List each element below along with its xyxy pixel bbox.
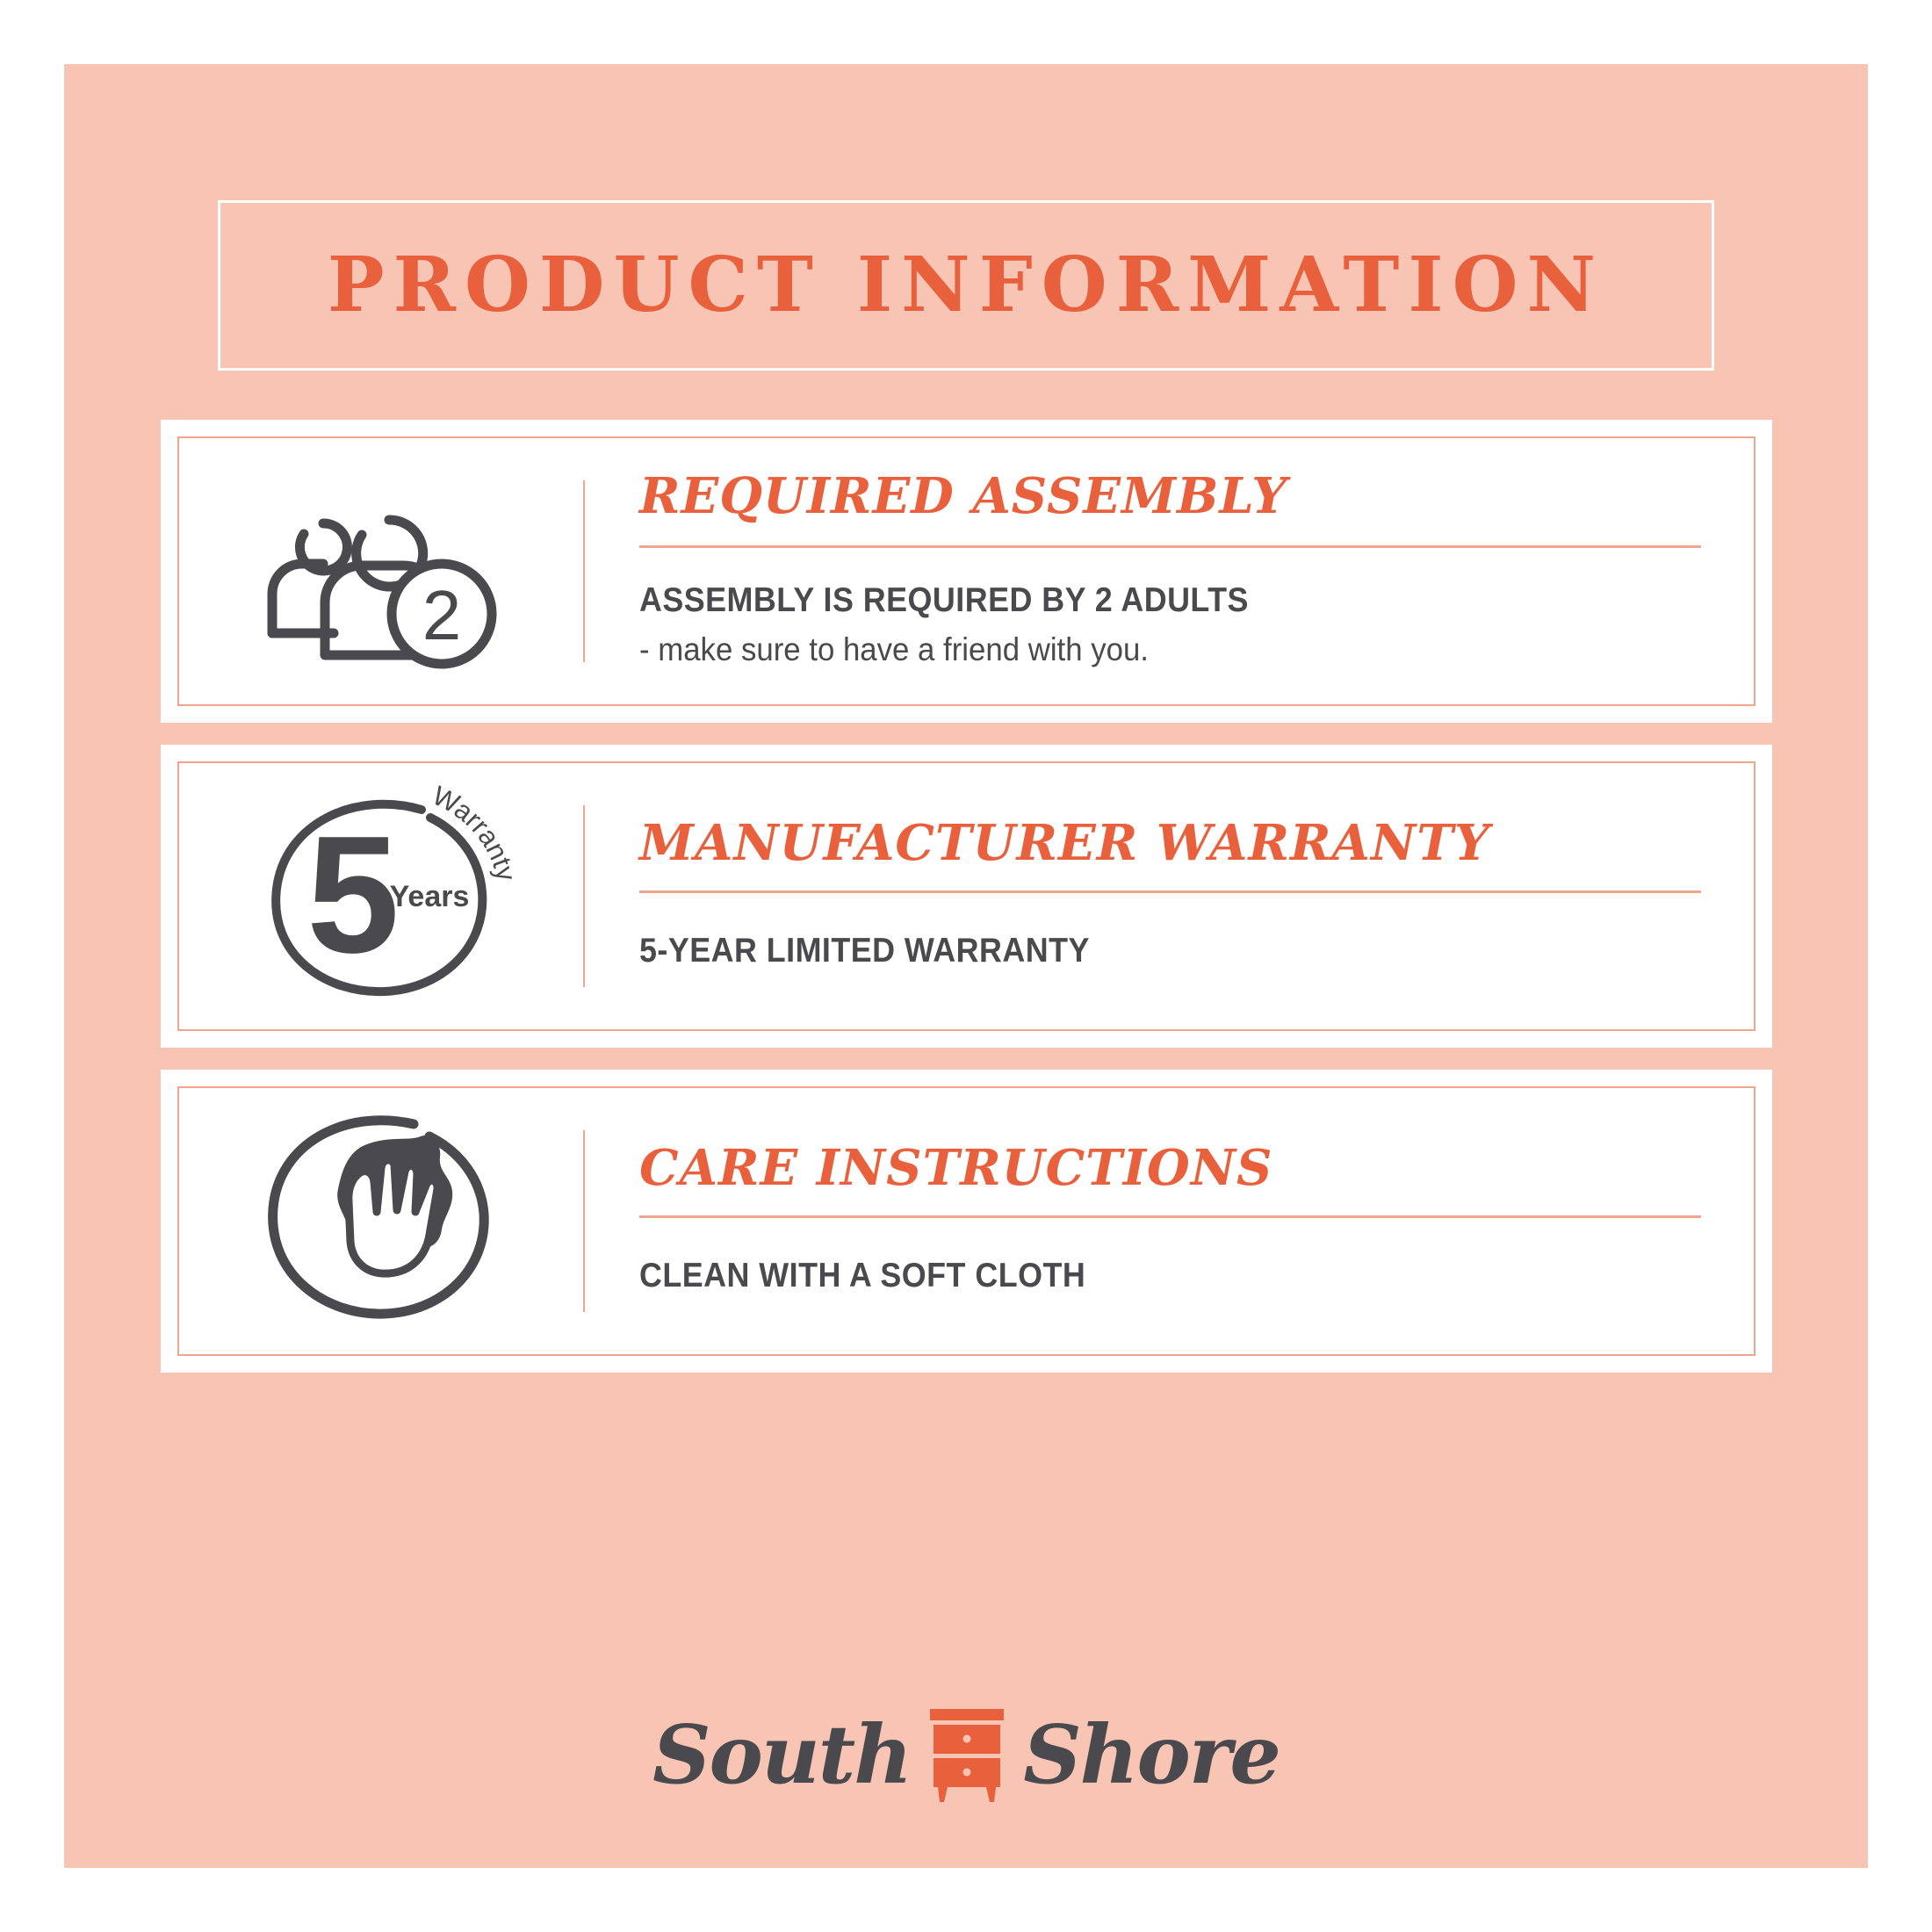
warranty-years-label: Years [390, 880, 470, 913]
card-inner-border: 2 REQUIRED ASSEMBLY ASSEMBLY IS REQUIRED… [177, 436, 1755, 706]
page-title-box: PRODUCT INFORMATION [218, 200, 1714, 371]
warranty-arc-label: Warranty [428, 780, 513, 884]
card-text-care: CARE INSTRUCTIONS CLEAN WITH A SOFT CLOT… [585, 1088, 1754, 1354]
assembly-badge-number: 2 [422, 576, 462, 654]
card-body-assembly: ASSEMBLY IS REQUIRED BY 2 ADULTS - make … [639, 578, 1701, 672]
icon-container-care [179, 1088, 583, 1354]
icon-container-assembly: 2 [179, 438, 583, 704]
card-inner-border: CARE INSTRUCTIONS CLEAN WITH A SOFT CLOT… [177, 1086, 1755, 1356]
card-heading-warranty: MANUFACTURER WARRANTY [639, 818, 1701, 869]
card-text-warranty: MANUFACTURER WARRANTY 5-YEAR LIMITED WAR… [585, 763, 1754, 1029]
page-title: PRODUCT INFORMATION [328, 248, 1604, 323]
logo-word-shore: Shore [1023, 1714, 1280, 1795]
info-card-care-instructions: CARE INSTRUCTIONS CLEAN WITH A SOFT CLOT… [161, 1070, 1772, 1373]
infographic-page: PRODUCT INFORMATION [64, 64, 1868, 1868]
card-body-strong-care: CLEAN WITH A SOFT CLOTH [639, 1253, 1616, 1299]
info-card-required-assembly: 2 REQUIRED ASSEMBLY ASSEMBLY IS REQUIRED… [161, 420, 1772, 723]
card-heading-care: CARE INSTRUCTIONS [639, 1143, 1701, 1194]
card-heading-assembly: REQUIRED ASSEMBLY [639, 471, 1701, 523]
card-body-strong-warranty: 5-YEAR LIMITED WARRANTY [639, 928, 1616, 974]
hand-wiping-cloth-icon [254, 1105, 508, 1337]
card-text-assembly: REQUIRED ASSEMBLY ASSEMBLY IS REQUIRED B… [585, 438, 1754, 704]
card-rule-3 [639, 1215, 1701, 1218]
card-rule-1 [639, 545, 1701, 548]
card-rule-2 [639, 890, 1701, 893]
card-body-strong-assembly: ASSEMBLY IS REQUIRED BY 2 ADULTS [639, 578, 1616, 624]
card-body-care: CLEAN WITH A SOFT CLOTH [639, 1253, 1701, 1299]
logo-word-south: South [652, 1714, 911, 1795]
nightstand-icon [926, 1705, 1007, 1804]
card-inner-border: 5 Years Warranty MANUFACTURER WARRANTY [177, 761, 1755, 1031]
two-people-icon: 2 [249, 471, 513, 673]
icon-container-warranty: 5 Years Warranty [179, 763, 583, 1029]
warranty-number: 5 [306, 802, 400, 988]
five-year-warranty-icon: 5 Years Warranty [249, 778, 513, 1015]
card-body-warranty: 5-YEAR LIMITED WARRANTY [639, 928, 1701, 974]
south-shore-logo: South Shore [64, 1693, 1868, 1816]
card-body-sub-assembly: - make sure to have a friend with you. [639, 628, 1637, 672]
info-card-manufacturer-warranty: 5 Years Warranty MANUFACTURER WARRANTY [161, 745, 1772, 1048]
